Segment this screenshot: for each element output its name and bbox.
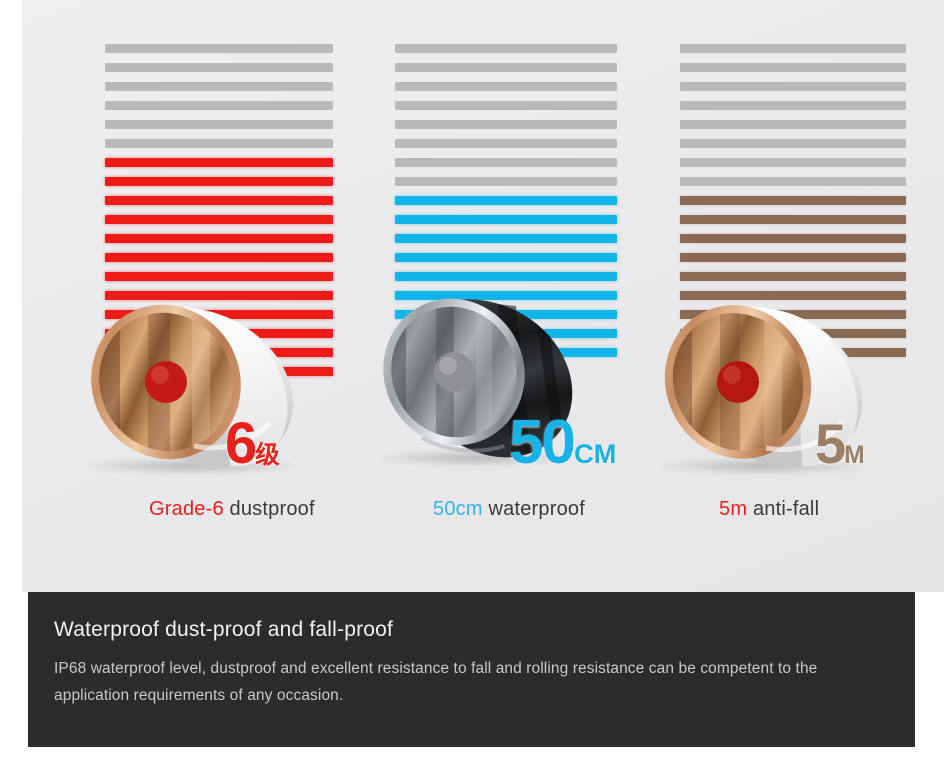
caption-waterproof: 50cm waterproof bbox=[433, 498, 585, 521]
stripe-dustproof bbox=[105, 348, 333, 357]
stripe-anti-fall bbox=[680, 253, 906, 262]
stripe-waterproof bbox=[395, 272, 617, 281]
caption-highlight: 5m bbox=[719, 498, 747, 520]
stripe-gray bbox=[105, 101, 333, 110]
stripe-dustproof bbox=[105, 329, 333, 338]
stripe-column-dustproof bbox=[105, 44, 333, 386]
stripe-anti-fall bbox=[680, 291, 906, 300]
stripe-column-waterproof bbox=[395, 44, 617, 367]
stripe-gray bbox=[105, 82, 333, 91]
stripe-gray bbox=[680, 158, 906, 167]
overlay-number-dustproof: 6级 bbox=[225, 415, 280, 473]
stripe-waterproof bbox=[395, 196, 617, 205]
stripe-dustproof bbox=[105, 215, 333, 224]
caption-highlight: Grade-6 bbox=[149, 498, 224, 520]
stripe-anti-fall bbox=[680, 215, 906, 224]
stripe-anti-fall bbox=[680, 310, 906, 319]
stripe-column-antifall bbox=[680, 44, 906, 367]
caption-rest: anti-fall bbox=[747, 498, 819, 520]
stripe-gray bbox=[395, 101, 617, 110]
stripe-gray bbox=[680, 63, 906, 72]
stripe-waterproof bbox=[395, 348, 617, 357]
stripe-dustproof bbox=[105, 234, 333, 243]
stripe-gray bbox=[395, 139, 617, 148]
overlay-number-value: 6 bbox=[225, 411, 255, 476]
caption-highlight: 50cm bbox=[433, 498, 483, 520]
stripe-dustproof bbox=[105, 291, 333, 300]
stripe-gray bbox=[395, 44, 617, 53]
stripe-dustproof bbox=[105, 158, 333, 167]
overlay-number-value: 5 bbox=[815, 412, 844, 475]
stripe-waterproof bbox=[395, 253, 617, 262]
stripe-anti-fall bbox=[680, 234, 906, 243]
description-body: IP68 waterproof level, dustproof and exc… bbox=[54, 655, 889, 709]
stripe-gray bbox=[105, 139, 333, 148]
stripe-gray bbox=[395, 120, 617, 129]
stripe-gray bbox=[680, 101, 906, 110]
stripe-dustproof bbox=[105, 310, 333, 319]
stripe-waterproof bbox=[395, 234, 617, 243]
stripe-gray bbox=[105, 44, 333, 53]
stripe-waterproof bbox=[395, 310, 617, 319]
stripe-dustproof bbox=[105, 196, 333, 205]
stripe-gray bbox=[680, 44, 906, 53]
caption-dustproof: Grade-6 dustproof bbox=[149, 498, 315, 521]
stripe-gray bbox=[680, 139, 906, 148]
caption-rest: waterproof bbox=[483, 498, 585, 520]
description-title: Waterproof dust-proof and fall-proof bbox=[54, 618, 889, 642]
stripe-gray bbox=[105, 120, 333, 129]
overlay-number-value: 50 bbox=[509, 408, 574, 477]
stripe-gray bbox=[395, 63, 617, 72]
ring-sensor-dot bbox=[717, 361, 759, 403]
overlay-number-unit: 级 bbox=[255, 440, 279, 469]
stripe-gray bbox=[680, 120, 906, 129]
caption-rest: dustproof bbox=[224, 498, 315, 520]
stripe-gray bbox=[680, 82, 906, 91]
feature-showcase-panel: 6级 50CM 5M Grade-6 dustproof 50cm waterp… bbox=[22, 0, 944, 592]
stripe-waterproof bbox=[395, 291, 617, 300]
stripe-dustproof bbox=[105, 272, 333, 281]
description-panel: Waterproof dust-proof and fall-proof IP6… bbox=[28, 592, 915, 747]
infographic-page: 6级 50CM 5M Grade-6 dustproof 50cm waterp… bbox=[0, 0, 944, 763]
stripe-gray bbox=[395, 158, 617, 167]
stripe-anti-fall bbox=[680, 348, 906, 357]
stripe-waterproof bbox=[395, 215, 617, 224]
stripe-anti-fall bbox=[680, 329, 906, 338]
overlay-number-unit: CM bbox=[574, 438, 616, 469]
stripe-waterproof bbox=[395, 329, 617, 338]
stripe-gray bbox=[680, 177, 906, 186]
stripe-gray bbox=[395, 82, 617, 91]
overlay-number-antifall: 5M bbox=[815, 416, 865, 472]
stripe-anti-fall bbox=[680, 272, 906, 281]
stripe-dustproof bbox=[105, 367, 333, 376]
caption-antifall: 5m anti-fall bbox=[719, 498, 819, 521]
stripe-dustproof bbox=[105, 177, 333, 186]
stripe-gray bbox=[395, 177, 617, 186]
stripe-anti-fall bbox=[680, 196, 906, 205]
overlay-number-waterproof: 50CM bbox=[509, 412, 616, 474]
stripe-dustproof bbox=[105, 253, 333, 262]
stripe-gray bbox=[105, 63, 333, 72]
overlay-number-unit: M bbox=[844, 442, 865, 469]
